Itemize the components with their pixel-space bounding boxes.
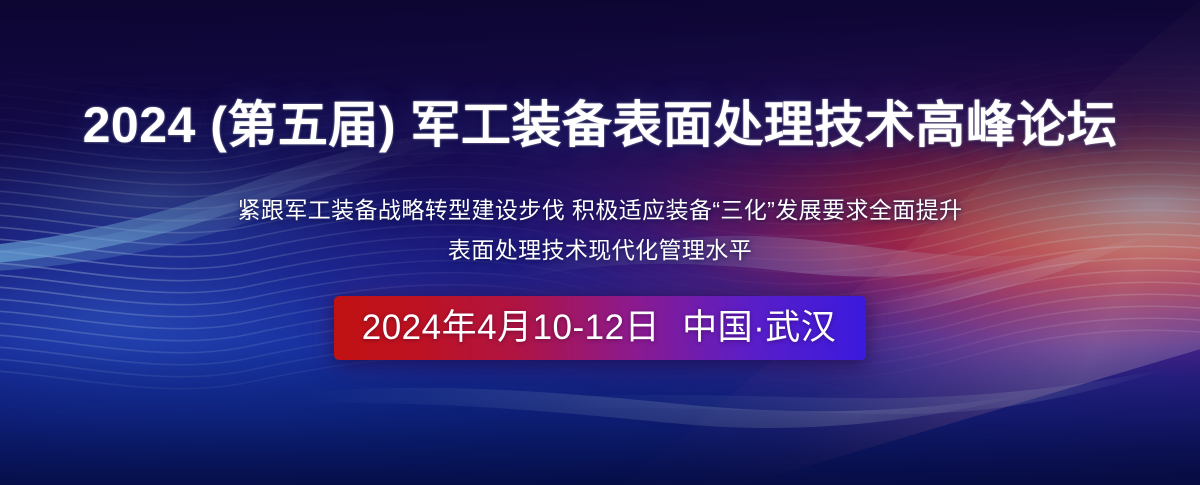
event-location: 中国·武汉 bbox=[682, 308, 836, 348]
banner-content: 2024 (第五届) 军工装备表面处理技术高峰论坛 紧跟军工装备战略转型建设步伐… bbox=[0, 0, 1200, 485]
event-date: 2024年4月10-12日 bbox=[362, 308, 660, 348]
banner-subtitle-line-2: 表面处理技术现代化管理水平 bbox=[0, 230, 1200, 270]
event-banner: 2024 (第五届) 军工装备表面处理技术高峰论坛 紧跟军工装备战略转型建设步伐… bbox=[0, 0, 1200, 485]
banner-subtitle: 紧跟军工装备战略转型建设步伐 积极适应装备“三化”发展要求全面提升 表面处理技术… bbox=[0, 190, 1200, 270]
banner-subtitle-line-1: 紧跟军工装备战略转型建设步伐 积极适应装备“三化”发展要求全面提升 bbox=[0, 190, 1200, 230]
banner-title: 2024 (第五届) 军工装备表面处理技术高峰论坛 bbox=[0, 96, 1200, 154]
date-location-bar: 2024年4月10-12日 中国·武汉 bbox=[334, 296, 867, 360]
date-location-wrapper: 2024年4月10-12日 中国·武汉 bbox=[0, 296, 1200, 360]
